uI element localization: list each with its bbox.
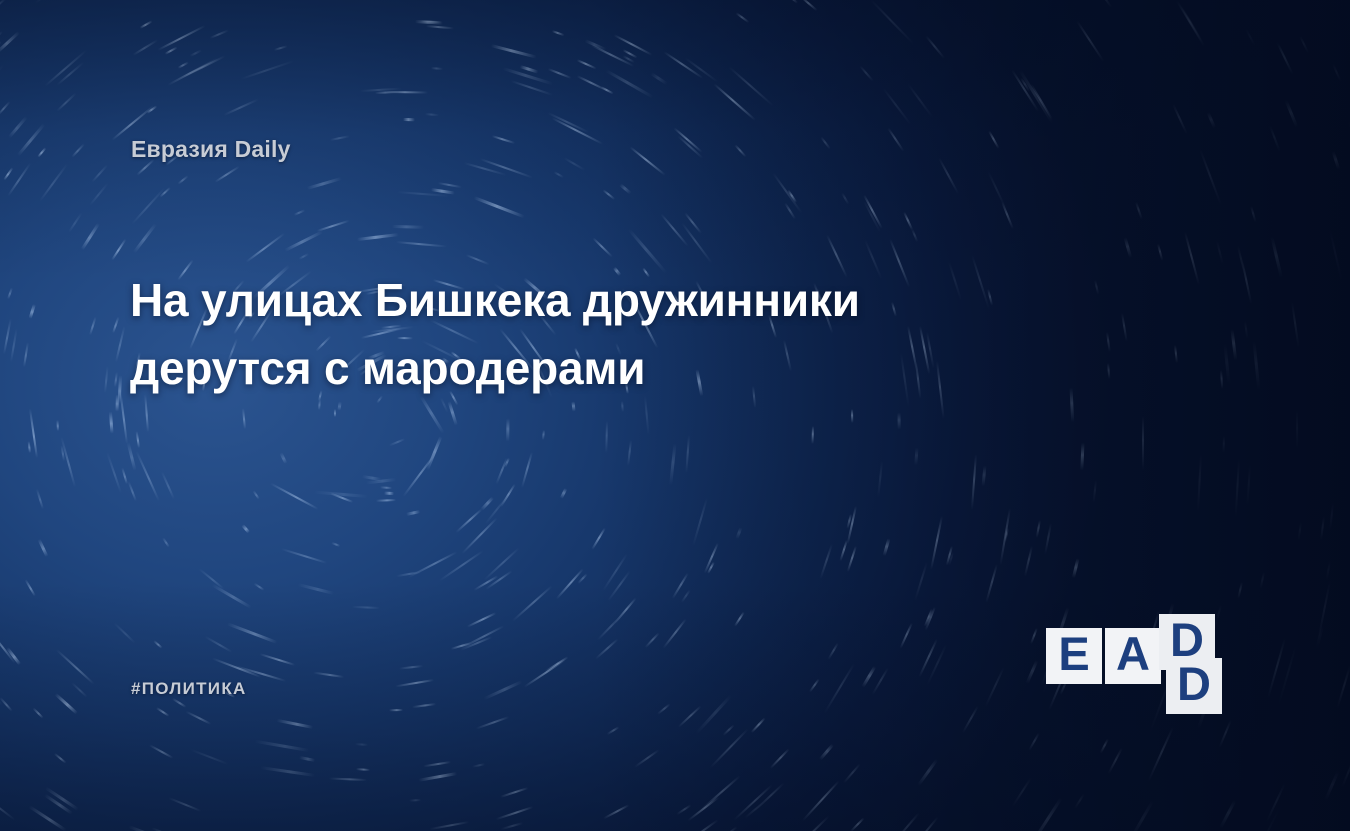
publisher-brand: Евразия Daily xyxy=(131,136,291,163)
logo-letter-a: A xyxy=(1116,627,1150,680)
logo-letter-d-lower: D xyxy=(1177,657,1211,710)
svg-text:D: D xyxy=(1177,657,1211,710)
ead-logo: E A D D xyxy=(1046,614,1230,714)
category-tag: #ПОЛИТИКА xyxy=(131,679,247,699)
ead-logo-mark: E A D D xyxy=(1046,614,1230,714)
logo-letter-e: E xyxy=(1058,627,1089,680)
headline-text: На улицах Бишкека дружинники дерутся с м… xyxy=(130,266,1030,402)
social-share-card: Евразия Daily На улицах Бишкека дружинни… xyxy=(0,0,1350,831)
